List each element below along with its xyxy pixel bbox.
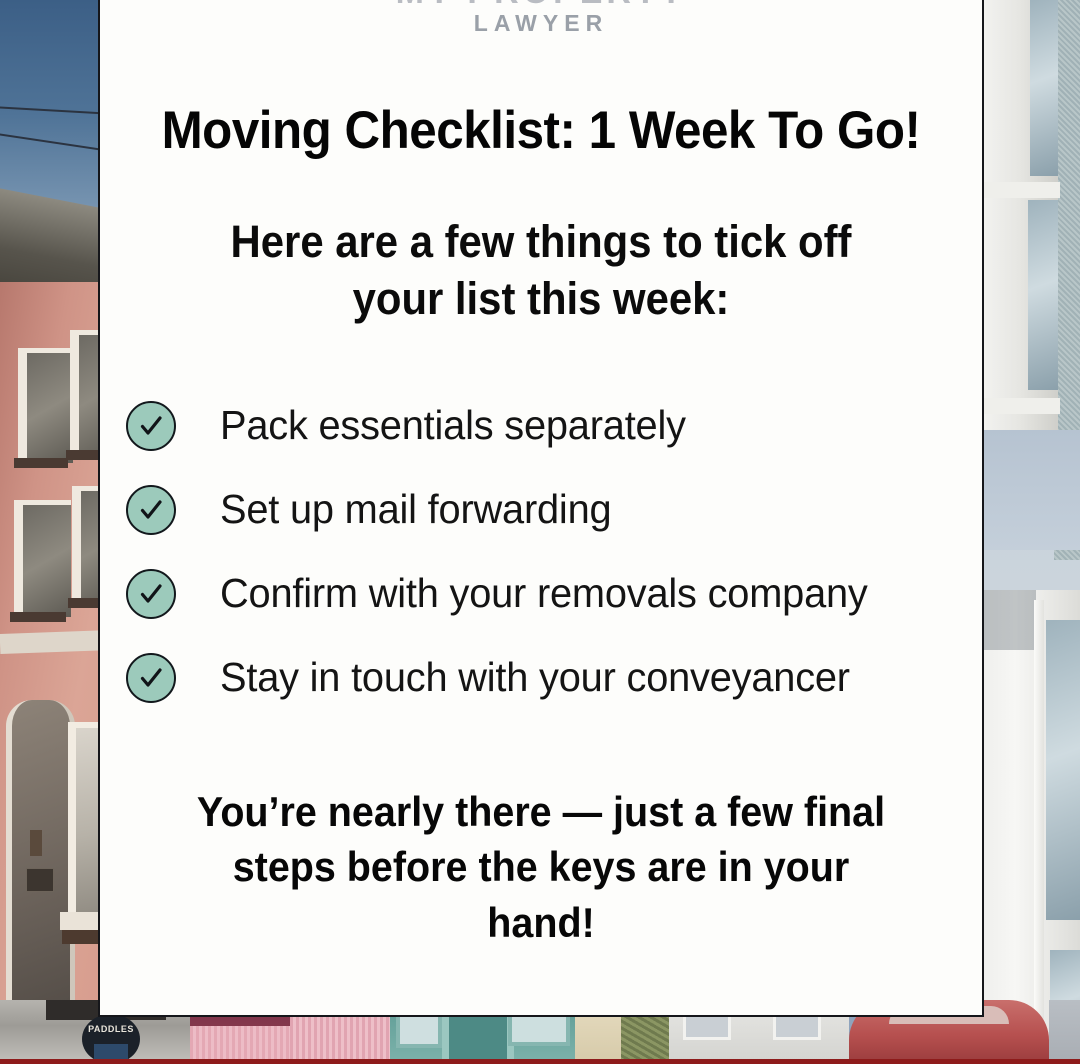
window-mullion [1034, 600, 1044, 1064]
house-plaque [26, 868, 54, 892]
street-edge [1049, 1000, 1080, 1064]
window-ledge [972, 182, 1060, 198]
painted-wall [972, 430, 1080, 550]
window [18, 348, 73, 463]
window-glass [1028, 200, 1058, 390]
list-item-label: Set up mail forwarding [220, 486, 611, 533]
window-ledge [972, 398, 1060, 414]
brand-name-top: MY PROPERTY [100, 0, 982, 4]
screenshot-root: PADDLES [0, 0, 1080, 1064]
list-item[interactable]: Stay in touch with your conveyancer [114, 636, 982, 720]
window-glass [1046, 620, 1080, 920]
check-circle-icon [126, 401, 176, 451]
paddles-shop-sign: PADDLES [82, 1014, 140, 1064]
checklist: Pack essentials separately Set up mail f… [114, 384, 982, 720]
footer-note: You’re nearly there — just a few final s… [181, 784, 901, 950]
right-white-house [972, 0, 1080, 1064]
check-circle-icon [126, 485, 176, 535]
list-item[interactable]: Pack essentials separately [114, 384, 982, 468]
checklist-card: MY PROPERTY LAWYER Moving Checklist: 1 W… [98, 0, 984, 1017]
list-item[interactable]: Confirm with your removals company [114, 552, 982, 636]
list-item-label: Confirm with your removals company [220, 570, 868, 617]
list-item-label: Pack essentials separately [220, 402, 686, 449]
shop-sign-label: PADDLES [88, 1024, 134, 1034]
lintel [972, 548, 1080, 590]
wall-fixture [30, 830, 42, 856]
window-sill [14, 458, 68, 468]
list-item[interactable]: Set up mail forwarding [114, 468, 982, 552]
brand-header: MY PROPERTY LAWYER [100, 0, 982, 37]
window [14, 500, 71, 617]
shop-sign-graphic [94, 1044, 128, 1060]
page-subtitle: Here are a few things to tick off your l… [196, 213, 886, 328]
window-sill [10, 612, 66, 622]
page-title: Moving Checklist: 1 Week To Go! [155, 103, 927, 159]
brand-name-bottom: LAWYER [100, 10, 982, 37]
check-circle-icon [126, 653, 176, 703]
window-glass [1030, 0, 1058, 176]
check-circle-icon [126, 569, 176, 619]
list-item-label: Stay in touch with your conveyancer [220, 654, 850, 701]
bottom-border-line [0, 1059, 1080, 1064]
left-pink-house [0, 0, 112, 1064]
wall-band [0, 630, 112, 654]
